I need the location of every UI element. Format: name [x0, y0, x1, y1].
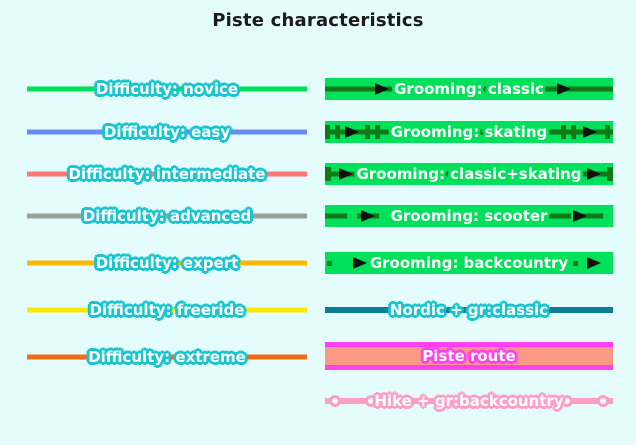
chart-title: Piste characteristics — [0, 10, 636, 31]
legend-row-piste-route[interactable]: Piste route — [325, 340, 613, 372]
legend-row-grooming-skating[interactable]: Grooming: skating — [325, 119, 613, 145]
legend-row-difficulty-extreme[interactable]: Difficulty: extreme — [27, 344, 307, 370]
legend-label-difficulty-intermediate: Difficulty: intermediate — [68, 167, 267, 182]
legend-row-difficulty-freeride[interactable]: Difficulty: freeride — [27, 297, 307, 323]
legend-row-difficulty-novice[interactable]: Difficulty: novice — [27, 76, 307, 102]
legend-row-difficulty-intermediate[interactable]: Difficulty: intermediate — [27, 161, 307, 187]
legend-row-nordic-classic[interactable]: Nordic + gr:classic — [325, 297, 613, 323]
legend-row-difficulty-advanced[interactable]: Difficulty: advanced — [27, 203, 307, 229]
legend-row-hike-backcountry[interactable]: Hike + gr:backcountry — [325, 388, 613, 414]
legend-label-grooming-scooter: Grooming: scooter — [390, 209, 549, 224]
legend-label-difficulty-easy: Difficulty: easy — [103, 125, 231, 140]
legend-row-grooming-classic[interactable]: Grooming: classic — [325, 76, 613, 102]
legend-row-grooming-classic-skating[interactable]: Grooming: classic+skating — [325, 161, 613, 187]
legend-label-difficulty-freeride: Difficulty: freeride — [89, 303, 246, 318]
legend-row-difficulty-expert[interactable]: Difficulty: expert — [27, 250, 307, 276]
legend-label-grooming-classic: Grooming: classic — [393, 82, 545, 97]
legend-label-grooming-skating: Grooming: skating — [390, 125, 548, 140]
legend-label-grooming-classic-skating: Grooming: classic+skating — [355, 167, 582, 182]
legend-label-nordic-classic: Nordic + gr:classic — [389, 303, 549, 318]
legend-label-difficulty-novice: Difficulty: novice — [95, 82, 239, 97]
legend-label-piste-route: Piste route — [421, 349, 516, 364]
legend-label-grooming-backcountry: Grooming: backcountry — [369, 256, 569, 271]
legend-row-difficulty-easy[interactable]: Difficulty: easy — [27, 119, 307, 145]
legend-row-grooming-scooter[interactable]: Grooming: scooter — [325, 203, 613, 229]
legend-label-difficulty-advanced: Difficulty: advanced — [82, 209, 252, 224]
legend-label-difficulty-expert: Difficulty: expert — [95, 256, 240, 271]
legend-label-hike-backcountry: Hike + gr:backcountry — [373, 394, 564, 409]
legend-row-grooming-backcountry[interactable]: Grooming: backcountry — [325, 250, 613, 276]
piste-legend-figure: Piste characteristics Difficulty: novice… — [0, 0, 636, 445]
legend-label-difficulty-extreme: Difficulty: extreme — [87, 350, 247, 365]
